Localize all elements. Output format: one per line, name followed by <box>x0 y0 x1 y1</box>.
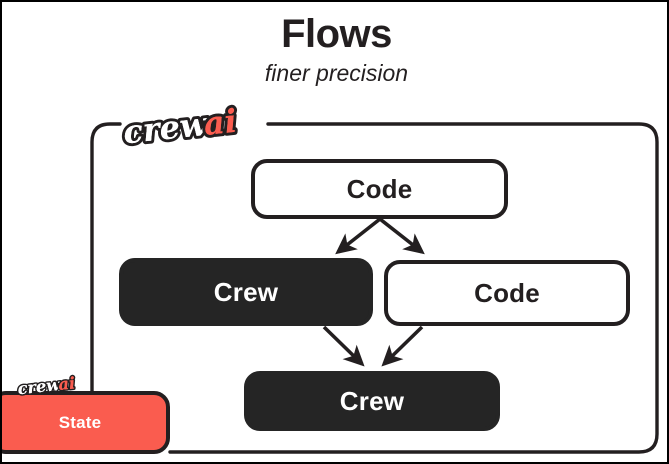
node-code-middle[interactable]: Code <box>384 260 630 326</box>
node-crew-bottom-label: Crew <box>340 386 404 417</box>
crewai-logo-state-crew: crew <box>17 375 62 398</box>
flow-container-outline <box>92 124 120 394</box>
diagram-canvas: Flows finer precision Code Crew Code Cre… <box>0 0 669 464</box>
node-state-label: State <box>59 413 102 433</box>
node-state[interactable]: State <box>0 391 170 454</box>
node-code-top[interactable]: Code <box>251 159 508 219</box>
node-crew-middle[interactable]: Crew <box>119 258 373 326</box>
node-code-middle-label: Code <box>474 278 540 309</box>
crewai-logo-svg: crew crew ai ai <box>120 102 270 150</box>
node-crew-bottom[interactable]: Crew <box>244 371 500 431</box>
crewai-logo-crew: crew <box>121 105 210 150</box>
edge-crew-mid-to-crew-bot <box>324 327 362 364</box>
edge-code-top-to-crew-mid <box>338 219 380 252</box>
node-crew-middle-label: Crew <box>214 277 278 308</box>
crewai-logo-ai: ai <box>202 102 239 143</box>
node-code-top-label: Code <box>347 174 413 205</box>
edge-code-top-to-code-mid <box>380 219 422 252</box>
edge-code-mid-to-crew-bot <box>384 327 422 364</box>
crewai-logo-state-ai: ai <box>57 373 76 394</box>
crewai-logo: crew crew ai ai <box>120 102 270 150</box>
crewai-logo-state: crew crew ai ai <box>16 373 92 398</box>
crewai-logo-state-svg: crew crew ai ai <box>16 373 92 398</box>
